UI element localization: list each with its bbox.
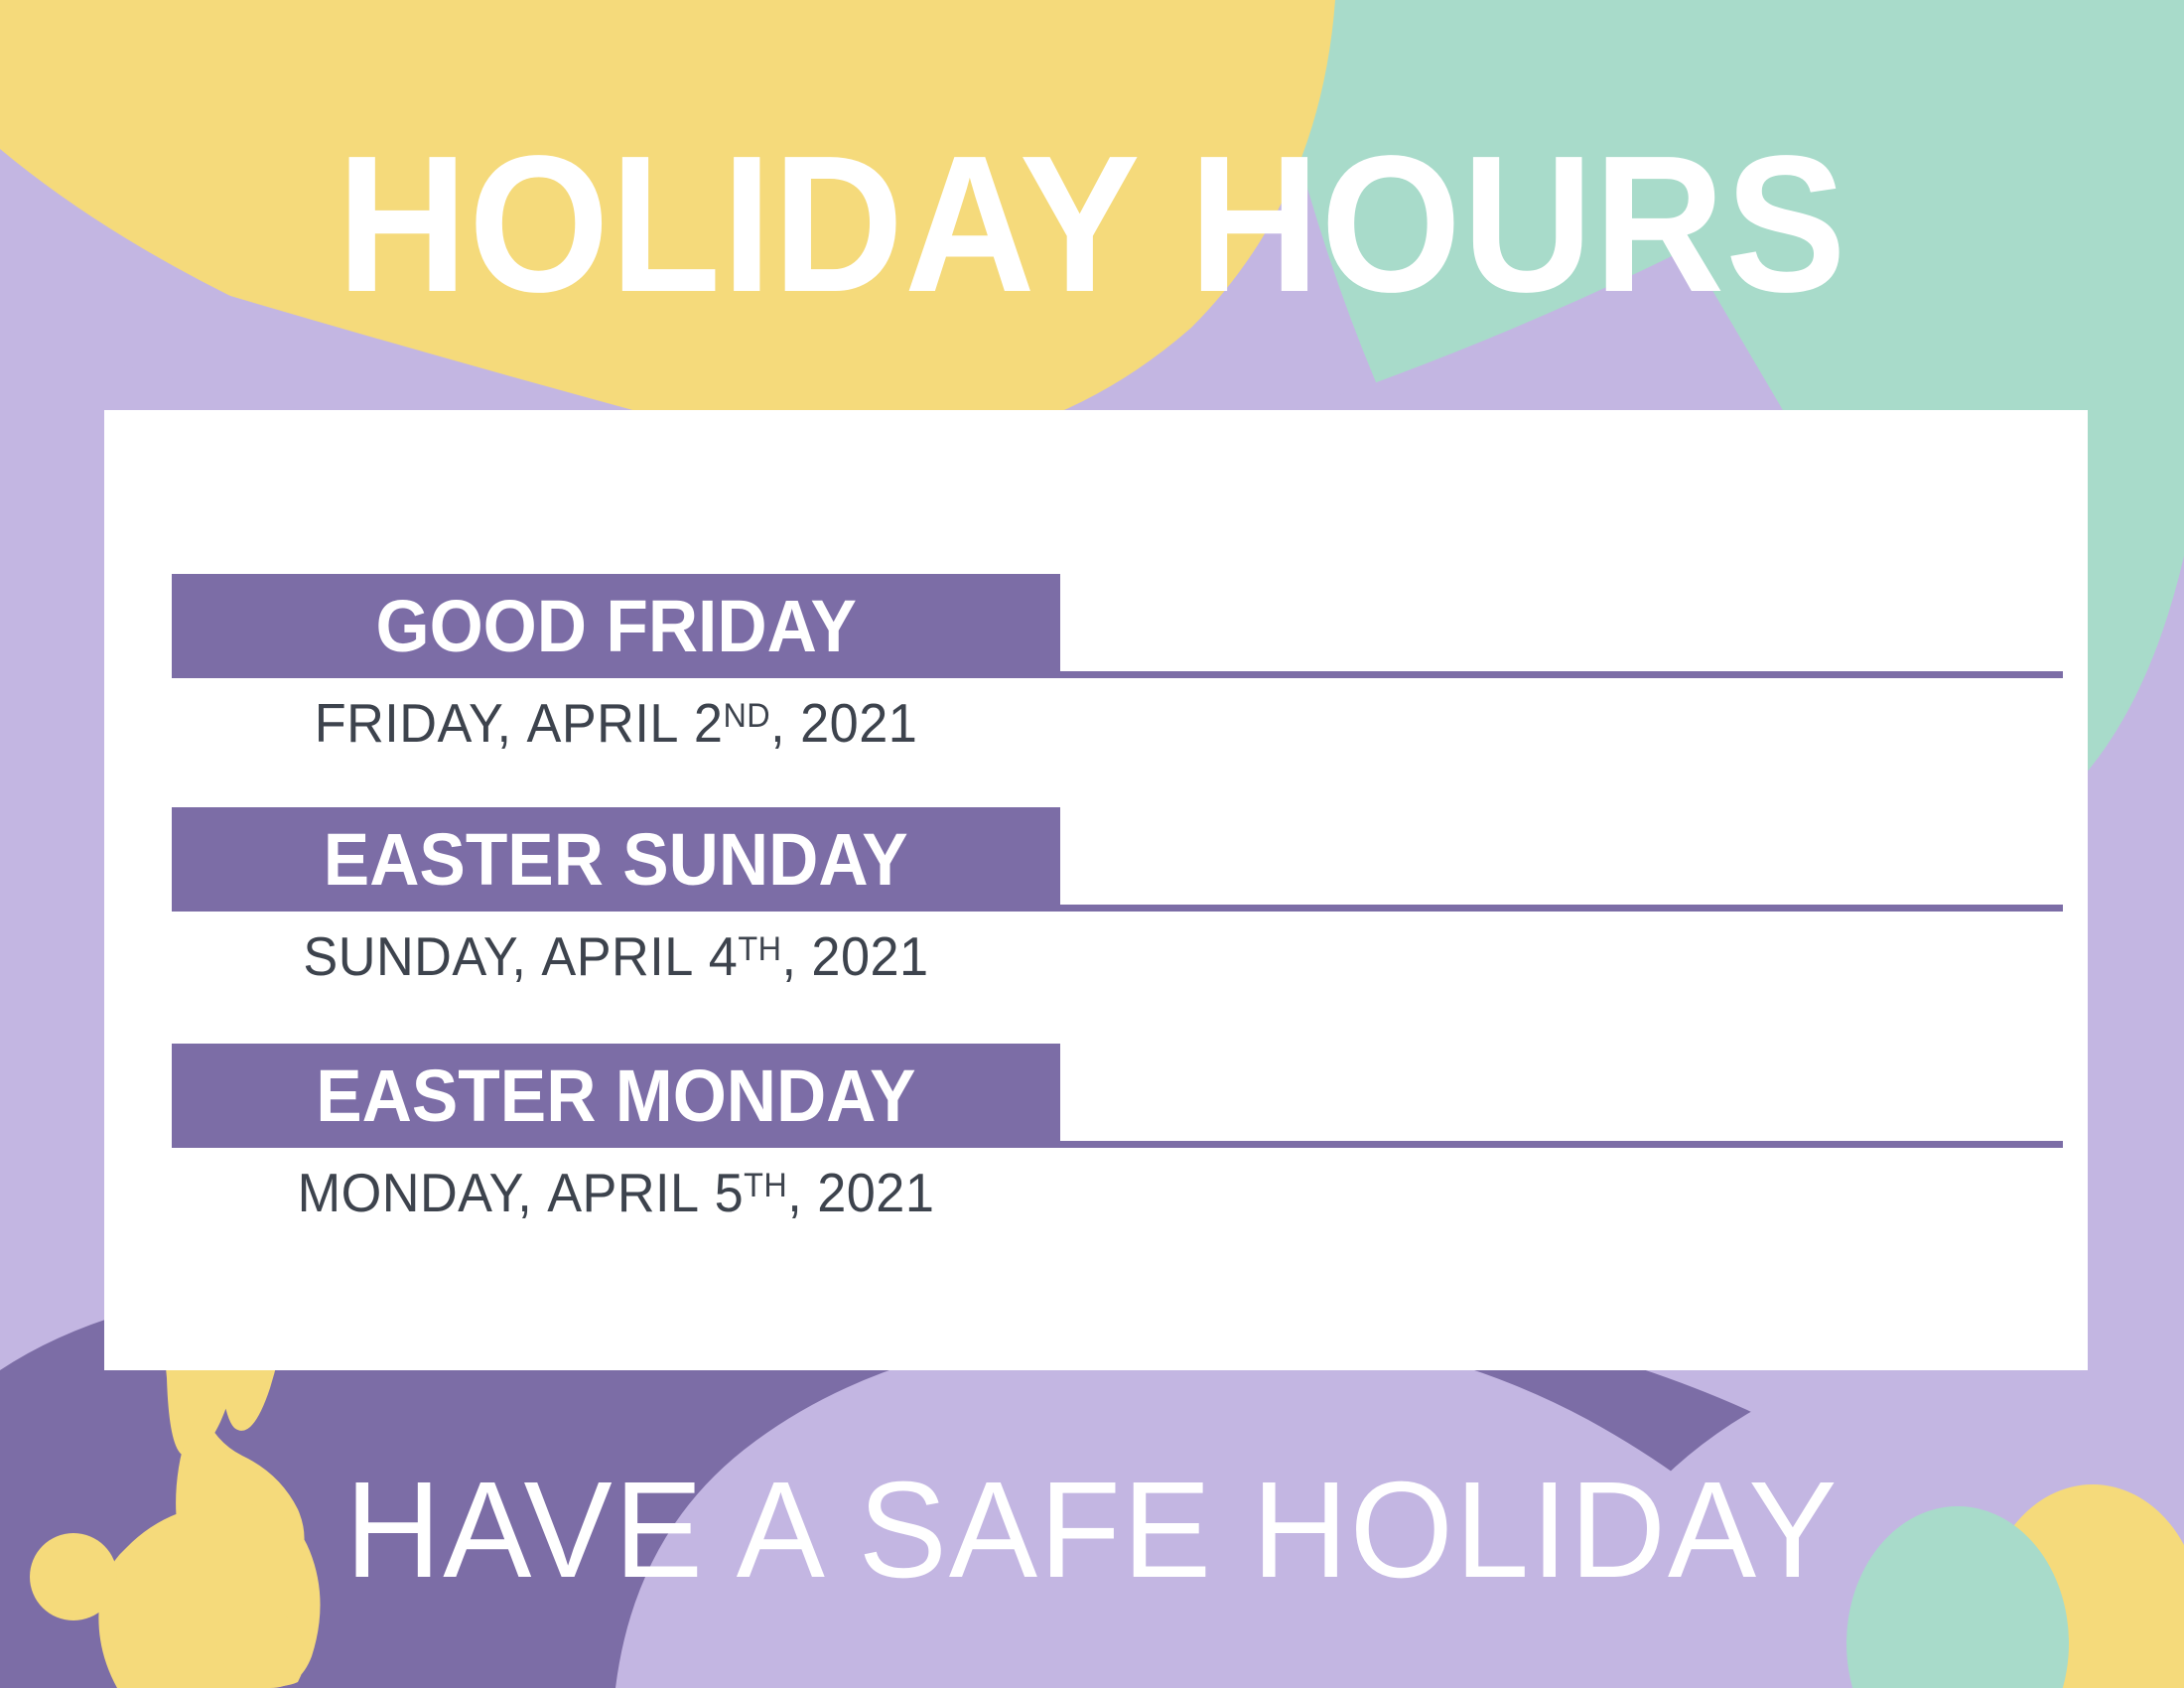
holiday-name-bar: EASTER MONDAY	[172, 1044, 1060, 1148]
date-ordinal: ND	[723, 697, 770, 735]
holiday-date: SUNDAY, APRIL 4TH, 2021	[194, 927, 1037, 986]
holiday-bar-wrap: EASTER MONDAY	[172, 1044, 2063, 1148]
holiday-bar-wrap: EASTER SUNDAY	[172, 807, 2063, 912]
date-year: , 2021	[787, 1162, 934, 1223]
date-weekday: FRIDAY,	[315, 692, 512, 754]
footer-message: HAVE A SAFE HOLIDAY	[33, 1462, 2151, 1599]
holiday-date: FRIDAY, APRIL 2ND, 2021	[194, 694, 1037, 753]
holiday-name-bar: EASTER SUNDAY	[172, 807, 1060, 912]
hours-write-in-line[interactable]	[1060, 905, 2063, 912]
holiday-row: EASTER SUNDAY SUNDAY, APRIL 4TH, 2021	[172, 807, 2063, 986]
date-month: APRIL	[547, 1162, 699, 1223]
hours-write-in-line[interactable]	[1060, 1141, 2063, 1148]
holiday-name: EASTER SUNDAY	[324, 823, 908, 897]
date-year: , 2021	[781, 925, 928, 987]
date-day: 5	[715, 1162, 745, 1223]
date-month: APRIL	[541, 925, 693, 987]
date-year: , 2021	[770, 692, 917, 754]
holiday-bar-wrap: GOOD FRIDAY	[172, 574, 2063, 678]
date-weekday: MONDAY,	[298, 1162, 533, 1223]
holiday-row: GOOD FRIDAY FRIDAY, APRIL 2ND, 2021	[172, 574, 2063, 753]
hours-write-in-line[interactable]	[1060, 671, 2063, 678]
holiday-row: EASTER MONDAY MONDAY, APRIL 5TH, 2021	[172, 1044, 2063, 1222]
holiday-name: EASTER MONDAY	[316, 1059, 915, 1133]
page-title: HOLIDAY HOURS	[76, 127, 2108, 322]
date-ordinal: TH	[744, 1167, 787, 1204]
holiday-name: GOOD FRIDAY	[375, 590, 856, 663]
date-day: 4	[709, 925, 739, 987]
holiday-date: MONDAY, APRIL 5TH, 2021	[194, 1164, 1037, 1222]
holiday-hours-poster: HOLIDAY HOURS GOOD FRIDAY FRIDAY, APRIL …	[0, 0, 2184, 1688]
date-weekday: SUNDAY,	[303, 925, 526, 987]
holiday-name-bar: GOOD FRIDAY	[172, 574, 1060, 678]
date-day: 2	[694, 692, 724, 754]
date-month: APRIL	[527, 692, 679, 754]
hours-card: GOOD FRIDAY FRIDAY, APRIL 2ND, 2021 EAST…	[104, 410, 2088, 1370]
date-ordinal: TH	[738, 930, 781, 968]
